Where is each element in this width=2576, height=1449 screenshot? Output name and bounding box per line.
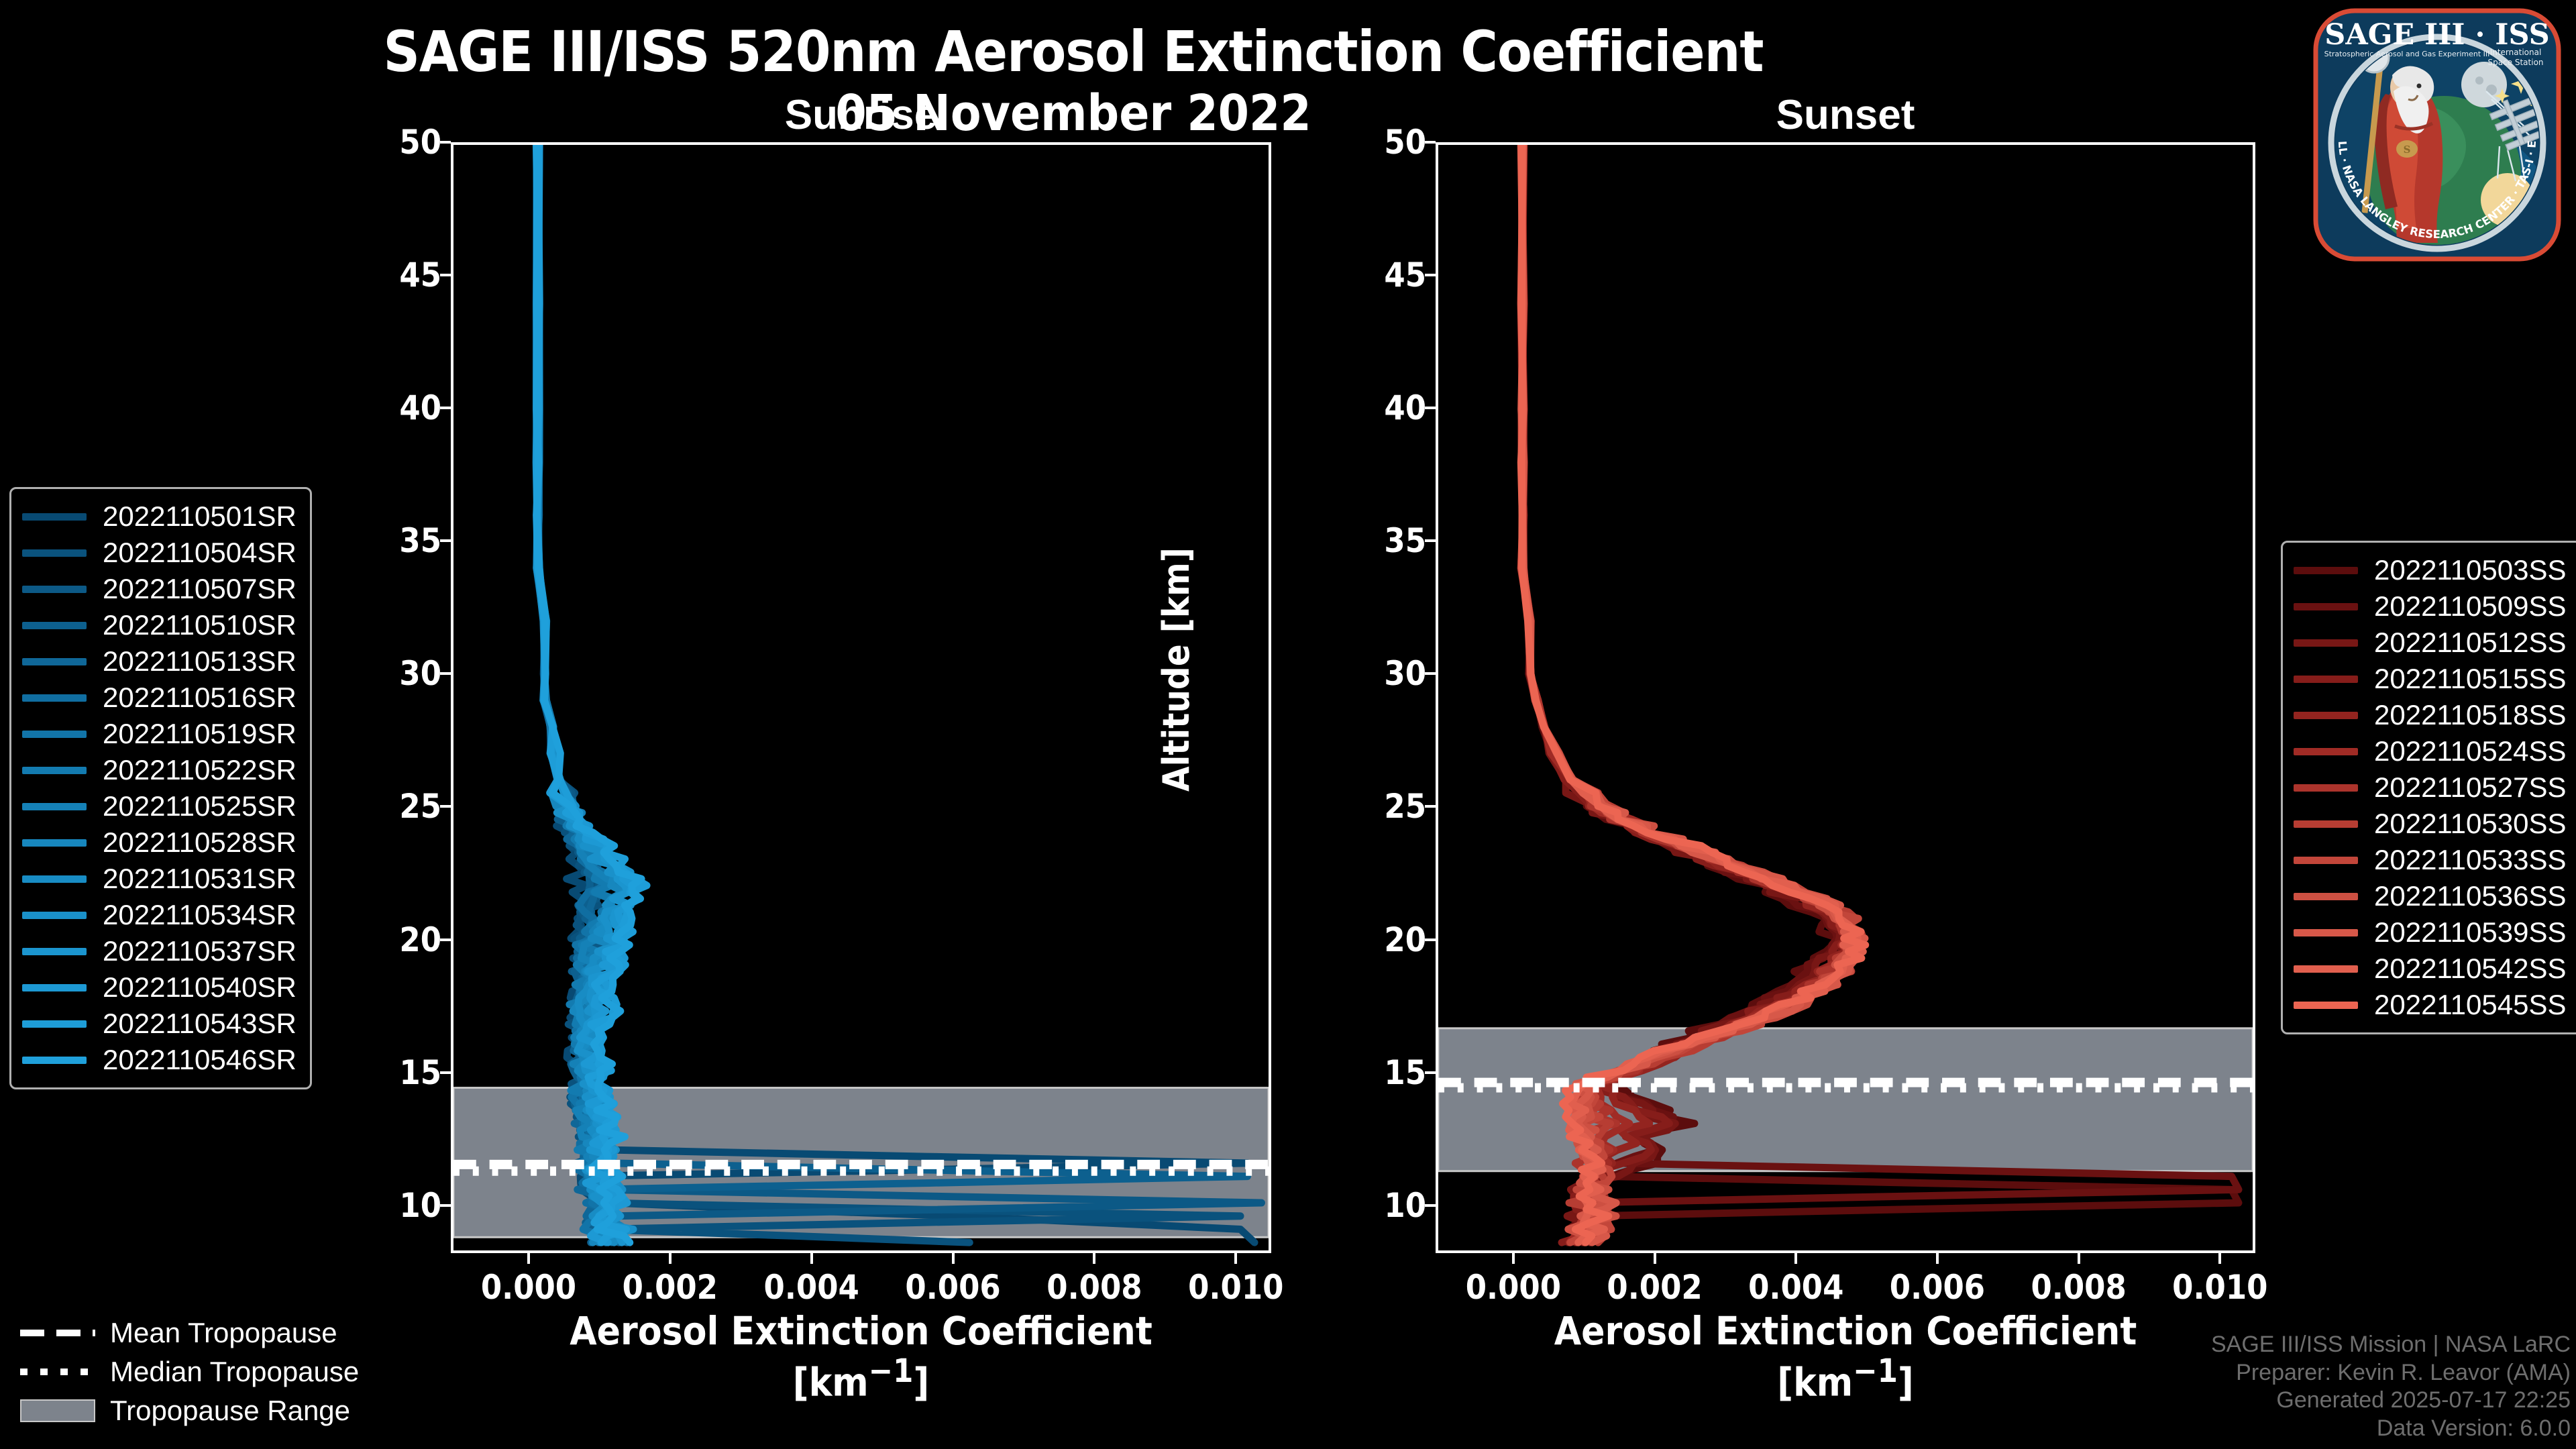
x-axis-tick-mark — [1936, 1253, 1939, 1264]
legend-sunrise-item[interactable]: 2022110531SR — [22, 861, 297, 897]
legend-sunrise-label: 2022110534SR — [103, 899, 297, 931]
legend-sunset-label: 2022110539SS — [2374, 916, 2567, 949]
legend-color-swatch-icon — [2294, 893, 2358, 900]
legend-sunrise-label: 2022110546SR — [103, 1044, 297, 1076]
legend-sunset-label: 2022110515SS — [2374, 663, 2567, 695]
legend-sunrise-label: 2022110528SR — [103, 826, 297, 859]
x-axis-label-sunrise-line1: Aerosol Extinction Coefficient — [451, 1309, 1271, 1353]
y-axis-tick-label: 30 — [1384, 654, 1426, 693]
legend-sunset-label: 2022110524SS — [2374, 735, 2567, 767]
legend-sunrise-item[interactable]: 2022110501SR — [22, 498, 297, 535]
legend-sunset-label: 2022110542SS — [2374, 953, 2567, 985]
legend-sunrise-item[interactable]: 2022110540SR — [22, 969, 297, 1006]
legend-sunset-item[interactable]: 2022110545SS — [2294, 987, 2567, 1023]
profile-line — [537, 145, 1240, 1242]
legend-color-swatch-icon — [22, 875, 87, 883]
tropopause-range-band — [1438, 1028, 2253, 1171]
legend-sunrise-label: 2022110525SR — [103, 790, 297, 822]
legend-sunset-label: 2022110536SS — [2374, 880, 2567, 912]
credits-data-version: Data Version: 6.0.0 — [2211, 1415, 2571, 1442]
x-axis-tick-mark — [2218, 1253, 2221, 1264]
legend-sunset-label: 2022110503SS — [2374, 554, 2567, 586]
page-title: SAGE III/ISS 520nm Aerosol Extinction Co… — [0, 19, 2147, 85]
legend-sunset-label: 2022110533SS — [2374, 844, 2567, 876]
legend-sunrise-label: 2022110540SR — [103, 971, 297, 1004]
y-axis-tick-label: 10 — [399, 1186, 441, 1225]
sage-iii-iss-mission-patch-logo: S SAGE III · ISS Stratospheric Aerosol a… — [2306, 5, 2568, 264]
y-axis-tick-mark — [440, 938, 451, 941]
x-axis-tick-mark — [1794, 1253, 1797, 1264]
y-axis-tick-label: 15 — [1384, 1053, 1426, 1092]
legend-sunset-item[interactable]: 2022110524SS — [2294, 733, 2567, 769]
y-axis-tick-label: 45 — [399, 256, 441, 294]
legend-color-swatch-icon — [22, 839, 87, 847]
y-axis-tick-label: 10 — [1384, 1186, 1426, 1225]
x-axis-tick-label: 0.000 — [1466, 1268, 1561, 1307]
legend-sunset-label: 2022110545SS — [2374, 989, 2567, 1021]
legend-color-swatch-icon — [2294, 748, 2358, 755]
legend-label-median-tropopause: Median Tropopause — [110, 1356, 359, 1388]
x-axis-label-sunset: Aerosol Extinction Coefficient [km−1] — [1436, 1309, 2255, 1404]
dotted-line-icon — [20, 1362, 95, 1381]
y-axis-tick-mark — [440, 805, 451, 808]
x-axis-tick-label: 0.008 — [1046, 1268, 1142, 1307]
y-axis-tick-mark — [440, 672, 451, 675]
profile-line — [537, 145, 625, 1242]
logo-subtitle-right-1: International — [2490, 48, 2542, 57]
legend-label-mean-tropopause: Mean Tropopause — [110, 1317, 337, 1349]
legend-sunrise-label: 2022110501SR — [103, 500, 297, 533]
y-axis-tick-label: 50 — [1384, 123, 1426, 162]
legend-color-swatch-icon — [22, 1020, 87, 1028]
x-axis-label-sunset-line1: Aerosol Extinction Coefficient — [1436, 1309, 2255, 1353]
legend-sunset-label: 2022110518SS — [2374, 699, 2567, 731]
x-axis-tick-label: 0.010 — [1188, 1268, 1283, 1307]
y-axis-tick-label: 15 — [399, 1053, 441, 1092]
panel-title-sunrise: Sunrise — [451, 91, 1271, 139]
legend-color-swatch-icon — [2294, 965, 2358, 973]
y-axis-tick-label: 40 — [1384, 388, 1426, 427]
legend-sunrise-item[interactable]: 2022110513SR — [22, 643, 297, 680]
legend-color-swatch-icon — [2294, 784, 2358, 792]
y-axis-tick-label: 20 — [1384, 920, 1426, 959]
y-axis-tick-mark — [1425, 1071, 1436, 1074]
legend-sunset-label: 2022110512SS — [2374, 627, 2567, 659]
legend-sunrise-label: 2022110504SR — [103, 537, 297, 569]
y-axis-tick-label: 20 — [399, 920, 441, 959]
x-axis-tick-label: 0.006 — [1890, 1268, 1985, 1307]
legend-sunset-item[interactable]: 2022110518SS — [2294, 697, 2567, 733]
y-axis-tick-mark — [440, 141, 451, 144]
legend-color-swatch-icon — [2294, 639, 2358, 647]
legend-color-swatch-icon — [22, 549, 87, 557]
legend-sunrise-item[interactable]: 2022110504SR — [22, 535, 297, 571]
x-axis-tick-label: 0.004 — [1748, 1268, 1843, 1307]
legend-sunrise-item[interactable]: 2022110522SR — [22, 752, 297, 788]
legend-sunset-label: 2022110509SS — [2374, 590, 2567, 623]
plot-canvas-sunrise — [453, 145, 1269, 1250]
legend-label-tropopause-range: Tropopause Range — [110, 1395, 350, 1427]
legend-sunset-item[interactable]: 2022110542SS — [2294, 951, 2567, 987]
profile-line — [537, 145, 647, 1242]
x-axis-label-sunrise: Aerosol Extinction Coefficient [km−1] — [451, 1309, 1271, 1404]
y-axis-tick-mark — [440, 407, 451, 409]
credits-generated: Generated 2025-07-17 22:25 — [2211, 1387, 2571, 1414]
x-axis-tick-label: 0.002 — [623, 1268, 718, 1307]
y-axis-tick-mark — [440, 1071, 451, 1074]
y-axis-tick-mark — [440, 274, 451, 276]
legend-color-swatch-icon — [22, 803, 87, 810]
legend-sunset-item[interactable]: 2022110539SS — [2294, 914, 2567, 951]
y-axis-tick-mark — [1425, 1204, 1436, 1207]
logo-subtitle-left: Stratospheric Aerosol and Gas Experiment… — [2324, 50, 2490, 58]
legend-sunrise-item[interactable]: 2022110543SR — [22, 1006, 297, 1042]
y-axis-tick-label: 25 — [399, 787, 441, 826]
x-axis-tick-mark — [669, 1253, 672, 1264]
dashed-line-icon — [20, 1324, 95, 1342]
y-axis-label-sunset: Altitude [km] — [1155, 547, 1197, 792]
legend-color-swatch-icon — [22, 948, 87, 955]
legend-sunrise-item[interactable]: 2022110525SR — [22, 788, 297, 824]
legend-color-swatch-icon — [22, 513, 87, 521]
legend-color-swatch-icon — [22, 694, 87, 702]
plot-panel-sunset — [1436, 142, 2255, 1253]
legend-sunset-label: 2022110530SS — [2374, 808, 2567, 840]
profile-line — [537, 145, 1254, 1242]
legend-sunset-item[interactable]: 2022110503SS — [2294, 552, 2567, 588]
x-axis-tick-mark — [527, 1253, 530, 1264]
legend-color-swatch-icon — [2294, 567, 2358, 574]
legend-sunrise-label: 2022110507SR — [103, 573, 297, 605]
legend-sunrise-item[interactable]: 2022110510SR — [22, 607, 297, 643]
x-axis-tick-label: 0.000 — [481, 1268, 576, 1307]
legend-tropopause: Mean Tropopause Median Tropopause Tropop… — [20, 1313, 359, 1430]
profile-line — [536, 145, 1261, 1242]
y-axis-tick-mark — [440, 539, 451, 542]
panel-title-sunset: Sunset — [1436, 91, 2255, 139]
legend-sunset-item[interactable]: 2022110515SS — [2294, 661, 2567, 697]
legend-sunrise-item[interactable]: 2022110516SR — [22, 680, 297, 716]
y-axis-tick-label: 25 — [1384, 787, 1426, 826]
legend-color-swatch-icon — [2294, 603, 2358, 610]
legend-sunrise-label: 2022110519SR — [103, 718, 297, 750]
legend-sunrise[interactable]: 2022110501SR2022110504SR2022110507SR2022… — [9, 487, 312, 1089]
y-axis-tick-label: 35 — [399, 521, 441, 560]
legend-sunset-item[interactable]: 2022110509SS — [2294, 588, 2567, 625]
credits-mission: SAGE III/ISS Mission | NASA LaRC — [2211, 1331, 2571, 1358]
legend-color-swatch-icon — [22, 767, 87, 774]
legend-color-swatch-icon — [22, 731, 87, 738]
x-axis-tick-mark — [952, 1253, 955, 1264]
y-axis-tick-label: 50 — [399, 123, 441, 162]
legend-color-swatch-icon — [2294, 712, 2358, 719]
legend-color-swatch-icon — [22, 912, 87, 919]
legend-sunrise-label: 2022110543SR — [103, 1008, 297, 1040]
x-axis-tick-label: 0.006 — [905, 1268, 1000, 1307]
y-axis-tick-mark — [1425, 672, 1436, 675]
y-axis-tick-label: 40 — [399, 388, 441, 427]
legend-sunrise-label: 2022110531SR — [103, 863, 297, 895]
legend-color-swatch-icon — [22, 658, 87, 665]
legend-sunset-item[interactable]: 2022110512SS — [2294, 625, 2567, 661]
legend-color-swatch-icon — [22, 1057, 87, 1064]
plot-panel-sunrise — [451, 142, 1271, 1253]
x-axis-tick-mark — [810, 1253, 813, 1264]
legend-color-swatch-icon — [22, 622, 87, 629]
legend-sunrise-label: 2022110516SR — [103, 682, 297, 714]
x-axis-tick-label: 0.004 — [764, 1268, 859, 1307]
legend-sunrise-item[interactable]: 2022110519SR — [22, 716, 297, 752]
legend-color-swatch-icon — [2294, 857, 2358, 864]
legend-sunrise-label: 2022110513SR — [103, 645, 297, 678]
y-axis-tick-mark — [1425, 539, 1436, 542]
legend-item-median-tropopause: Median Tropopause — [20, 1352, 359, 1391]
x-axis-tick-mark — [2078, 1253, 2080, 1264]
legend-sunrise-item[interactable]: 2022110537SR — [22, 933, 297, 969]
legend-sunset-item[interactable]: 2022110536SS — [2294, 878, 2567, 914]
filled-band-icon — [20, 1401, 95, 1420]
plot-canvas-sunset — [1438, 145, 2253, 1250]
legend-sunrise-label: 2022110510SR — [103, 609, 297, 641]
legend-sunrise-label: 2022110522SR — [103, 754, 297, 786]
legend-sunset[interactable]: 2022110503SS2022110509SS2022110512SS2022… — [2281, 541, 2576, 1034]
y-axis-tick-mark — [1425, 805, 1436, 808]
logo-title: SAGE III · ISS — [2324, 18, 2549, 52]
credits-block: SAGE III/ISS Mission | NASA LaRC Prepare… — [2211, 1331, 2571, 1442]
legend-item-mean-tropopause: Mean Tropopause — [20, 1313, 359, 1352]
legend-sunset-item[interactable]: 2022110530SS — [2294, 806, 2567, 842]
svg-text:S: S — [2404, 144, 2411, 156]
legend-sunset-label: 2022110527SS — [2374, 771, 2567, 804]
y-axis-tick-mark — [1425, 274, 1436, 276]
profile-line — [537, 145, 1248, 1242]
x-axis-label-sunset-line2: [km−1] — [1436, 1353, 2255, 1404]
x-axis-tick-mark — [1512, 1253, 1515, 1264]
legend-color-swatch-icon — [2294, 676, 2358, 683]
legend-sunset-item[interactable]: 2022110533SS — [2294, 842, 2567, 878]
y-axis-tick-label: 30 — [399, 654, 441, 693]
legend-sunrise-item[interactable]: 2022110534SR — [22, 897, 297, 933]
x-axis-tick-mark — [1234, 1253, 1237, 1264]
y-axis-tick-mark — [1425, 141, 1436, 144]
y-axis-tick-label: 35 — [1384, 521, 1426, 560]
legend-sunrise-item[interactable]: 2022110546SR — [22, 1042, 297, 1078]
credits-preparer: Preparer: Kevin R. Leavor (AMA) — [2211, 1359, 2571, 1387]
legend-sunrise-label: 2022110537SR — [103, 935, 297, 967]
legend-color-swatch-icon — [22, 984, 87, 991]
x-axis-tick-mark — [1093, 1253, 1095, 1264]
y-axis-tick-mark — [440, 1204, 451, 1207]
logo-subtitle-right-2: Space Station — [2487, 58, 2543, 67]
x-axis-tick-label: 0.010 — [2172, 1268, 2267, 1307]
x-axis-tick-label: 0.002 — [1607, 1268, 1702, 1307]
legend-color-swatch-icon — [22, 586, 87, 593]
legend-color-swatch-icon — [2294, 820, 2358, 828]
y-axis-tick-mark — [1425, 407, 1436, 409]
legend-color-swatch-icon — [2294, 1002, 2358, 1009]
legend-item-tropopause-range: Tropopause Range — [20, 1391, 359, 1430]
x-axis-label-sunrise-line2: [km−1] — [451, 1353, 1271, 1404]
legend-sunrise-item[interactable]: 2022110507SR — [22, 571, 297, 607]
legend-color-swatch-icon — [2294, 929, 2358, 936]
x-axis-tick-label: 0.008 — [2031, 1268, 2126, 1307]
legend-sunrise-item[interactable]: 2022110528SR — [22, 824, 297, 861]
y-axis-tick-mark — [1425, 938, 1436, 941]
legend-sunset-item[interactable]: 2022110527SS — [2294, 769, 2567, 806]
y-axis-tick-label: 45 — [1384, 256, 1426, 294]
x-axis-tick-mark — [1654, 1253, 1656, 1264]
